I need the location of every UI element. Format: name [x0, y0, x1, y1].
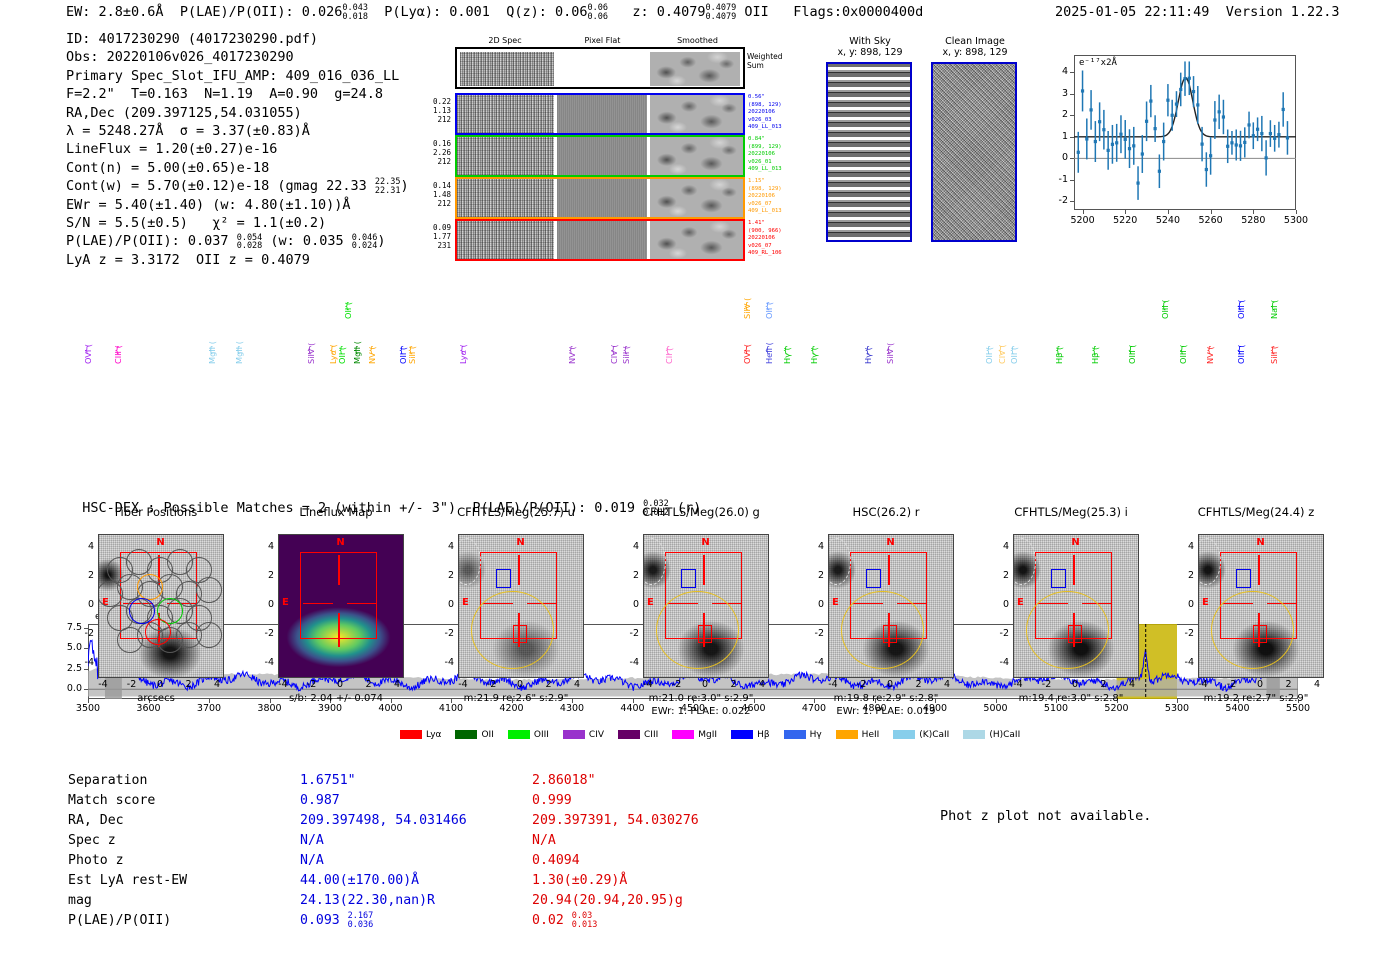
info-lambda-sigma: λ = 5248.27Å σ = 3.37(±0.83)Å: [66, 122, 409, 140]
line-marker-label: SiII (: [621, 320, 631, 364]
fiber-2dspec: [457, 221, 554, 259]
header-z-species: OII: [744, 4, 768, 20]
north-label: N: [886, 537, 894, 548]
line-marker-label: OIII (: [1178, 320, 1188, 364]
ytick-label: 1: [1044, 131, 1068, 142]
weighted-sum-smoothed: [650, 52, 740, 86]
cutout-image: NE: [278, 534, 404, 678]
header-timestamp-version: 2025-01-05 22:11:49 Version 1.22.3: [1055, 4, 1340, 20]
east-label: E: [1202, 597, 1209, 608]
match-table-row-plae: P(LAE)/P(OII)0.093 2.1670.0360.02 0.030.…: [68, 912, 699, 930]
header-z-value: 0.4079: [657, 4, 706, 20]
cutout-xtick-label: 2: [1094, 679, 1114, 690]
cutout-image: NE: [458, 534, 584, 678]
ytick-label: 0: [1044, 152, 1068, 163]
line-marker-label: NaI (: [1269, 275, 1279, 319]
xtick: [1253, 210, 1254, 214]
cutout-ytick-label: 2: [983, 570, 1009, 581]
fiber-meta: (900, 966): [748, 228, 798, 236]
info-plae-text: P(LAE)/P(OII): 0.037: [66, 233, 229, 249]
line-marker-label: OII (: [984, 320, 994, 364]
header-summary-line: EW: 2.8±0.6Å P(LAE)/P(OII): 0.0260.0430.…: [66, 4, 923, 21]
ytick-label: 4: [1044, 66, 1068, 77]
spec2d-fiber-row: [455, 93, 745, 135]
blue-match-box: [1051, 569, 1067, 589]
fiber-meta: (898, 129): [748, 102, 798, 110]
line-marker-label: OII (: [1009, 320, 1019, 364]
fiber-meta: v026_07: [748, 243, 798, 251]
match-row-blue-value: 24.13(22.30,nan)R: [300, 892, 530, 910]
fiber-stat: 212: [413, 199, 451, 208]
cutout-xtick-label: 2: [539, 679, 559, 690]
cutout-title: Fiber Positions: [60, 505, 252, 519]
fiber-right-meta: 1.15"(898, 129)20220106v026_07409_LL_013: [748, 178, 798, 216]
line-marker-brace: {: [810, 346, 816, 356]
fiber-meta: 0.84": [748, 136, 798, 144]
match-row-blue-value: 209.397498, 54.031466: [300, 812, 530, 830]
yellow-ellipse: [841, 591, 924, 669]
cutout-xtick-label: -4: [273, 679, 293, 690]
fiber-2dspec: [457, 179, 554, 217]
ytick: [1070, 180, 1074, 181]
north-label: N: [156, 537, 164, 548]
match-row-red-value: 209.397391, 54.030276: [532, 812, 699, 830]
fiber-pixelflat: [557, 221, 647, 259]
match-plae-label: P(LAE)/P(OII): [68, 912, 298, 930]
cutout-ytick-label: -2: [248, 628, 274, 639]
cutout-ytick-label: 2: [798, 570, 824, 581]
match-plae-blue-errors: 2.1670.036: [348, 912, 374, 929]
match-table-row: Match score0.9870.999: [68, 792, 699, 810]
cutout-stats-line: m:19.8 re:2.9" s:2.8": [790, 693, 982, 706]
line-marker-label: OII (: [337, 320, 347, 364]
cutout-xtick-label: -4: [1193, 679, 1213, 690]
cutout-image: NE: [1013, 534, 1139, 678]
fiber-stat: 1.48: [413, 190, 451, 199]
with-sky-pixels: [828, 64, 910, 240]
line-marker-label: Hγ (: [809, 320, 819, 364]
cutout-title: Lineflux Map: [240, 505, 432, 519]
header-flags: Flags:0x0000400d: [793, 4, 923, 20]
yellow-ellipse: [656, 591, 739, 669]
cutout-xtick-label: -2: [852, 679, 872, 690]
info-id: ID: 4017230290 (4017230290.pdf): [66, 30, 409, 48]
crosshair-vertical-top: [518, 555, 519, 586]
header-plae-label: P(LAE)/P(OII):: [180, 4, 294, 20]
fiber-left-stats: 0.141.48212: [413, 181, 451, 209]
line-marker-brace: {: [1091, 346, 1097, 356]
cutout-xtick-label: 0: [330, 679, 350, 690]
fiber-meta: 20220106: [748, 193, 798, 201]
cutout-ytick-label: 4: [613, 541, 639, 552]
match-plae-red-errors: 0.030.013: [572, 912, 598, 929]
ytick: [1070, 72, 1074, 73]
cutout-xtick-label: 2: [1279, 679, 1299, 690]
line-marker-brace: {: [353, 346, 359, 356]
line-marker-label: OII (: [343, 275, 353, 319]
info-cont-w-errors: 22.3522.31: [375, 178, 401, 195]
cutout-image: NE: [828, 534, 954, 678]
emission-line-plot: e⁻¹⁷x2Å 520052205240526052805300 -2-1012…: [1038, 55, 1300, 250]
cutout-panel: CFHTLS/Meg(24.4) zNE-4-2024420-2-4m:19.2…: [1160, 505, 1352, 717]
line-marker-label: OIII (: [1160, 275, 1170, 319]
clean-image-pixels: [933, 64, 1015, 240]
match-plae-red-value: 0.02: [532, 913, 564, 928]
fiber-meta: v026_07: [748, 201, 798, 209]
cutout-ytick-label: 0: [248, 599, 274, 610]
fiber-stat: 212: [413, 115, 451, 124]
info-params: F=2.2" T=0.163 N=1.19 A=0.90 g=24.8: [66, 85, 409, 103]
spec2d-panel-group: 2D Spec Pixel Flat Smoothed Weighted Sum…: [455, 36, 760, 251]
fiber-meta: 1.41": [748, 220, 798, 228]
cutout-stats-line: m:19.2 re:2.7" s:2.9": [1160, 693, 1352, 706]
line-marker-brace: {: [1237, 302, 1243, 312]
info-plae-w-text: (w: 0.035: [262, 233, 343, 249]
ytick-label: 2: [1044, 109, 1068, 120]
cutout-ytick-label: 0: [613, 599, 639, 610]
cutout-xtick-label: -2: [1037, 679, 1057, 690]
east-label: E: [462, 597, 469, 608]
spec2d-fiber-row: [455, 219, 745, 261]
line-marker-brace: {: [864, 346, 870, 356]
xtick-label: 5240: [1152, 215, 1184, 226]
match-row-red-value: 1.30(±0.29)Å: [532, 872, 699, 890]
blue-match-box: [866, 569, 882, 589]
line-marker-label: SiIV (: [885, 320, 895, 364]
crosshair-vertical-top: [1258, 555, 1259, 586]
clean-image-coords: x, y: 898, 129: [925, 47, 1025, 59]
xtick-label: 5280: [1237, 215, 1269, 226]
match-row-label: Spec z: [68, 832, 298, 850]
cutout-panel-row: Fiber PositionsNE-4-2024420-2-4arcsecsLi…: [0, 505, 1400, 735]
cutout-ytick-label: -2: [1168, 628, 1194, 639]
fiber-meta: (899, 129): [748, 144, 798, 152]
xtick: [1211, 210, 1212, 214]
cutout-xtick-label: -2: [667, 679, 687, 690]
fiber-stat: 2.26: [413, 148, 451, 157]
crosshair-horizontal-left: [303, 603, 332, 604]
match-row-label: mag: [68, 892, 298, 910]
line-marker-brace: {: [235, 346, 241, 356]
cutout-stats-line: s/b: 2.04 +/- 0.074: [240, 693, 432, 706]
match-row-blue-value: N/A: [300, 832, 530, 850]
line-marker-label: MgII (: [352, 320, 362, 364]
cutout-title: CFHTLS/Meg(25.3) i: [975, 505, 1167, 519]
line-marker-brace: {: [114, 346, 120, 356]
cutout-stats-line: m:21.0 re:3.0" s:2.9": [605, 693, 797, 706]
white-ellipse: [828, 538, 851, 585]
cutout-image: NE: [1198, 534, 1324, 678]
line-marker-brace: {: [783, 346, 789, 356]
line-marker-brace: {: [1055, 346, 1061, 356]
cutout-xtick-label: 4: [1307, 679, 1327, 690]
fiber-circle: [196, 577, 222, 603]
line-marker-label: NV (: [567, 320, 577, 364]
line-marker-label: MgII (: [234, 320, 244, 364]
cutout-image: NE: [643, 534, 769, 678]
info-radec: RA,Dec (209.397125,54.031055): [66, 104, 409, 122]
line-marker-brace: {: [208, 346, 214, 356]
line-marker-label: OII (: [764, 275, 774, 319]
match-plae-blue: 0.093 2.1670.036: [300, 912, 530, 930]
cutout-panel: Lineflux MapNE-4-2024420-2-4s/b: 2.04 +/…: [240, 505, 432, 717]
info-ewr: EWr = 5.40(±1.40) (w: 4.80(±1.10))Å: [66, 196, 409, 214]
cutout-panel: CFHTLS/Meg(25.3) iNE-4-2024420-2-4m:19.4…: [975, 505, 1167, 717]
north-label: N: [336, 537, 344, 548]
cutout-ytick-label: -4: [68, 657, 94, 668]
cutout-xtick-label: -2: [122, 679, 142, 690]
fiber-left-stats: 0.221.13212: [413, 97, 451, 125]
cutout-panel: CFHTLS/Meg(25.7) uNE-4-2024420-2-4m:21.9…: [420, 505, 612, 717]
cutout-subtitle: s/b: 2.04 +/- 0.074: [240, 693, 432, 706]
line-marker-label: Lyα (: [458, 320, 468, 364]
cutout-xtick-label: 0: [510, 679, 530, 690]
cutout-xtick-label: 2: [724, 679, 744, 690]
cutout-ytick-label: -4: [983, 657, 1009, 668]
east-label: E: [832, 597, 839, 608]
line-marker-label: OIII (: [1236, 275, 1246, 319]
spec2d-header-pixelflat: Pixel Flat: [555, 36, 650, 45]
white-ellipse: [1198, 538, 1221, 585]
line-marker-label: SiIV (: [742, 275, 752, 319]
cutout-ytick-label: -4: [798, 657, 824, 668]
cutout-ytick-label: 4: [428, 541, 454, 552]
match-row-blue-value: N/A: [300, 852, 530, 870]
info-obs: Obs: 20220106v026_4017230290: [66, 48, 409, 66]
line-marker-brace: {: [1237, 346, 1243, 356]
emission-line-svg: [1074, 55, 1296, 210]
timestamp: 2025-01-05 22:11:49: [1055, 4, 1209, 20]
ytick: [1070, 94, 1074, 95]
header-plae-errors: 0.0430.018: [342, 4, 368, 21]
line-marker-label: MgII (: [207, 320, 217, 364]
fiber-circle: [196, 622, 222, 648]
fiber-pixelflat: [557, 95, 647, 133]
with-sky-coords: x, y: 898, 129: [820, 47, 920, 59]
line-marker-brace: {: [622, 346, 628, 356]
line-marker-label: HeII (: [764, 320, 774, 364]
fiber-left-stats: 0.091.77231: [413, 223, 451, 251]
match-plae-red: 0.02 0.030.013: [532, 912, 699, 930]
match-table-row: mag24.13(22.30,nan)R20.94(20.94,20.95)g: [68, 892, 699, 910]
clean-image-title: Clean Image: [925, 36, 1025, 48]
fiber-pixelflat: [557, 179, 647, 217]
match-row-blue-value: 0.987: [300, 792, 530, 810]
fiber-stat: 0.09: [413, 223, 451, 232]
cutout-subtitle: m:19.4 re:3.0" s:2.8": [975, 693, 1167, 706]
spec2d-fiber-row: [455, 177, 745, 219]
match-row-label: Separation: [68, 772, 298, 790]
east-label: E: [1017, 597, 1024, 608]
info-plae-close: ): [377, 233, 385, 249]
cutout-title: CFHTLS/Meg(26.0) g: [605, 505, 797, 519]
cutout-xtick-label: 4: [387, 679, 407, 690]
header-qz-label: Q(z):: [506, 4, 547, 20]
xtick-label: 5300: [1280, 215, 1312, 226]
cutout-xtick-label: 4: [207, 679, 227, 690]
cutout-xtick-label: 4: [1122, 679, 1142, 690]
line-marker-brace: {: [1128, 346, 1134, 356]
white-ellipse: [643, 538, 666, 585]
line-marker-brace: {: [329, 346, 335, 356]
cutout-subtitle: arcsecs: [60, 693, 252, 706]
east-label: E: [647, 597, 654, 608]
spec2d-fiber-row: [455, 135, 745, 177]
white-ellipse: [1013, 538, 1036, 585]
xtick: [1083, 210, 1084, 214]
crosshair-horizontal-right: [347, 603, 376, 604]
north-label: N: [1071, 537, 1079, 548]
fiber-meta: 1.15": [748, 178, 798, 186]
cutout-xtick-label: 4: [567, 679, 587, 690]
east-label: E: [282, 597, 289, 608]
cutout-xtick-label: 2: [909, 679, 929, 690]
info-lineflux: LineFlux = 1.20(±0.27)e-16: [66, 140, 409, 158]
cutout-subtitle: m:19.8 re:2.9" s:2.8"EWr: 1. PLAE: 0.019: [790, 693, 982, 718]
fiber-meta: 20220106: [748, 151, 798, 159]
ytick: [1070, 158, 1074, 159]
cutout-ytick-label: 2: [613, 570, 639, 581]
with-sky-title: With Sky: [820, 36, 920, 48]
fiber-meta: 20220106: [748, 109, 798, 117]
cutout-ytick-label: 0: [983, 599, 1009, 610]
line-marker-label: Hγ (: [782, 320, 792, 364]
line-marker-brace: {: [985, 346, 991, 356]
yellow-ellipse: [471, 591, 554, 669]
header-plae-value: 0.026: [302, 4, 343, 20]
line-marker-brace: {: [1270, 346, 1276, 356]
cutout-subtitle: m:21.0 re:3.0" s:2.9"EWr: 1. PLAE: 0.022: [605, 693, 797, 718]
cutout-stats-line: m:19.4 re:3.0" s:2.8": [975, 693, 1167, 706]
info-snr-chi2: S/N = 5.5(±0.5) χ² = 1.1(±0.2): [66, 214, 409, 232]
line-marker-brace: {: [998, 346, 1004, 356]
match-table-row: Spec zN/AN/A: [68, 832, 699, 850]
cutout-ytick-label: 0: [68, 599, 94, 610]
fiber-smoothed: [650, 179, 743, 217]
line-marker-brace: {: [886, 346, 892, 356]
match-row-label: RA, Dec: [68, 812, 298, 830]
header-ew: EW: 2.8±0.6Å: [66, 4, 164, 20]
line-marker-label: CIV (: [609, 320, 619, 364]
ytick: [1070, 137, 1074, 138]
cutout-ytick-label: 4: [983, 541, 1009, 552]
match-row-blue-value: 44.00(±170.00)Å: [300, 872, 530, 890]
xtick: [1125, 210, 1126, 214]
crosshair-vertical-top: [338, 555, 339, 586]
line-marker-label: OVI (: [742, 320, 752, 364]
ytick-label: 3: [1044, 88, 1068, 99]
cutout-ytick-label: -4: [428, 657, 454, 668]
blue-match-box: [496, 569, 512, 589]
cutout-ytick-label: 2: [428, 570, 454, 581]
cutout-xtick-label: 0: [1250, 679, 1270, 690]
cutout-ytick-label: -2: [68, 628, 94, 639]
blue-match-box: [1236, 569, 1252, 589]
info-plae-errors: 0.0540.028: [237, 234, 263, 251]
line-marker-brace: {: [665, 346, 671, 356]
cutout-subtitle: m:19.2 re:2.7" s:2.9": [1160, 693, 1352, 706]
white-ellipse: [458, 538, 481, 585]
line-marker-brace: {: [1270, 302, 1276, 312]
line-marker-brace: {: [1010, 346, 1016, 356]
fiber-meta: 409_LL_013: [748, 124, 798, 132]
cutout-ytick-label: 2: [248, 570, 274, 581]
xtick: [1168, 210, 1169, 214]
cutout-ytick-label: -4: [1168, 657, 1194, 668]
clean-image: [931, 62, 1017, 242]
fiber-stat: 231: [413, 241, 451, 250]
line-marker-label: SiIV (: [306, 320, 316, 364]
fiber-2dspec: [457, 137, 554, 175]
match-table-row: RA, Dec209.397498, 54.031466209.397391, …: [68, 812, 699, 830]
spec2d-weighted-sum-label: Weighted Sum: [747, 52, 783, 70]
with-sky-image: [826, 62, 912, 242]
fiber-meta: 409_LL_013: [748, 166, 798, 174]
cutout-xtick-label: 4: [937, 679, 957, 690]
match-row-red-value: N/A: [532, 832, 699, 850]
line-marker-brace: {: [610, 346, 616, 356]
header-z-label: z:: [632, 4, 648, 20]
cutout-xtick-label: 2: [359, 679, 379, 690]
fiber-left-stats: 0.162.26212: [413, 139, 451, 167]
fiber-right-meta: 0.56"(898, 129)20220106v026_03409_LL_013: [748, 94, 798, 132]
line-marker-brace: {: [765, 302, 771, 312]
crosshair-vertical-top: [1073, 555, 1074, 586]
xtick: [1296, 210, 1297, 214]
match-table-row: Photo zN/A0.4094: [68, 852, 699, 870]
cutout-panel: HSC(26.2) rNE-4-2024420-2-4m:19.8 re:2.9…: [790, 505, 982, 717]
cutout-subtitle: m:21.9 re:2.6" s:2.9": [420, 693, 612, 706]
line-marker-brace: {: [338, 346, 344, 356]
fiber-meta: 20220106: [748, 235, 798, 243]
north-label: N: [701, 537, 709, 548]
line-marker-label: Hβ (: [1090, 320, 1100, 364]
object-info-block: ID: 4017230290 (4017230290.pdf) Obs: 202…: [66, 30, 409, 269]
fiber-meta: (898, 129): [748, 186, 798, 194]
cutout-panel: Fiber PositionsNE-4-2024420-2-4arcsecs: [60, 505, 252, 717]
spec2d-header-2dspec: 2D Spec: [455, 36, 555, 45]
cutout-title: CFHTLS/Meg(25.7) u: [420, 505, 612, 519]
fiber-stat: 212: [413, 157, 451, 166]
fiber-meta: v026_03: [748, 117, 798, 125]
fiber-stat: 0.14: [413, 181, 451, 190]
info-plae: P(LAE)/P(OII): 0.037 0.0540.028 (w: 0.03…: [66, 232, 409, 250]
fiber-smoothed: [650, 137, 743, 175]
cutout-ytick-label: -2: [428, 628, 454, 639]
line-marker-brace: {: [1179, 346, 1185, 356]
line-marker-brace: {: [743, 346, 749, 356]
line-marker-brace: {: [1206, 346, 1212, 356]
cutout-ytick-label: 4: [1168, 541, 1194, 552]
yellow-ellipse: [1026, 591, 1109, 669]
info-cont-w-text: Cont(w) = 5.70(±0.12)e-18 (gmag 22.33: [66, 178, 367, 194]
cutout-xtick-label: -2: [1222, 679, 1242, 690]
line-marker-label: OVI (: [83, 320, 93, 364]
line-marker-brace: {: [84, 346, 90, 356]
line-marker-brace: {: [568, 346, 574, 356]
fiber-stat: 0.22: [413, 97, 451, 106]
cutout-ytick-label: -2: [798, 628, 824, 639]
cutout-xtick-label: 0: [880, 679, 900, 690]
cutout-xtick-label: 4: [752, 679, 772, 690]
cutout-xtick-label: -4: [93, 679, 113, 690]
crosshair-vertical-top: [703, 555, 704, 586]
fiber-circle-red: [145, 619, 171, 645]
info-redshifts: LyA z = 3.3172 OII z = 0.4079: [66, 251, 409, 269]
cutout-ewr-plae-line: EWr: 1. PLAE: 0.019: [790, 706, 982, 719]
xtick-label: 5200: [1067, 215, 1099, 226]
north-label: N: [1256, 537, 1264, 548]
